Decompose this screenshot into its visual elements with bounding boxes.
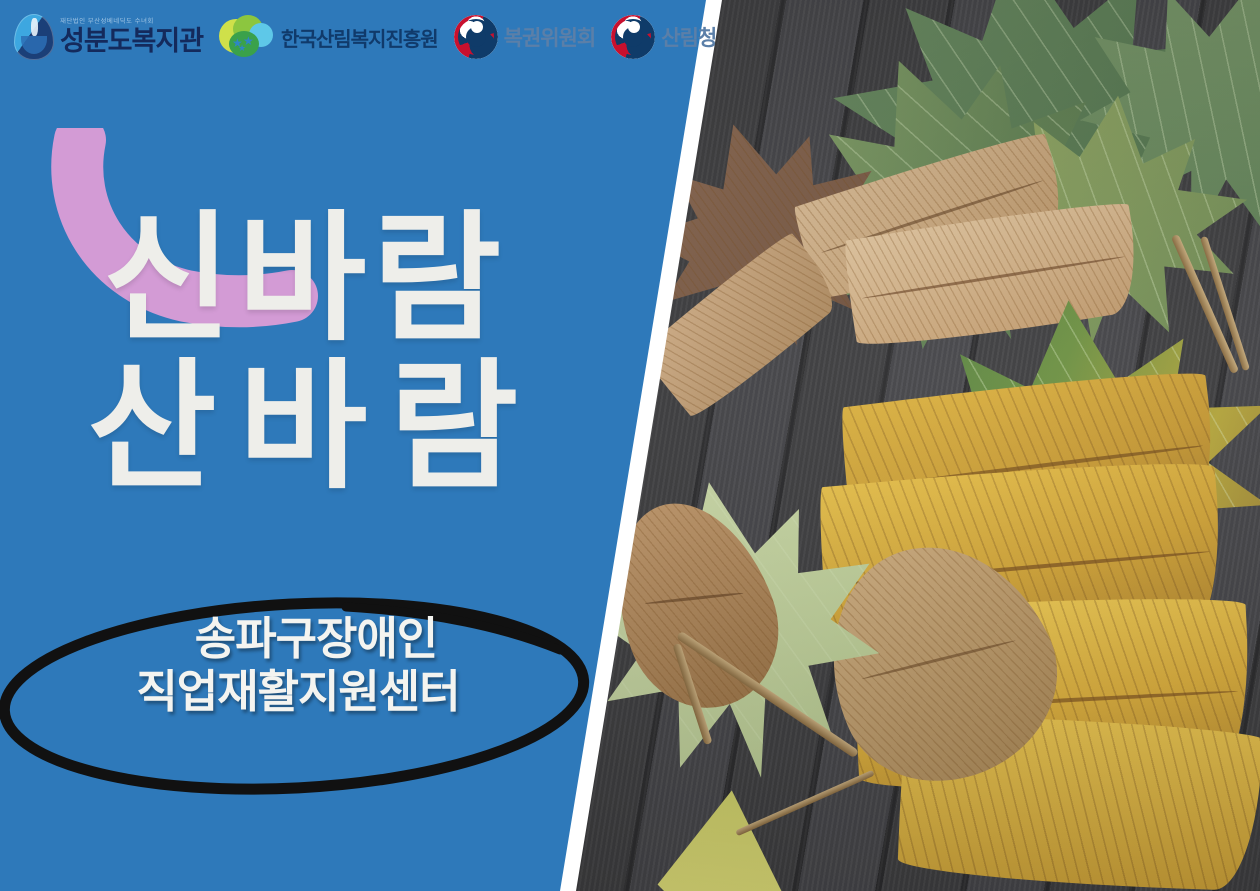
- star-icon-3: ★: [238, 44, 246, 53]
- poster-headline: 신바람 산바람: [0, 212, 600, 495]
- logo-seongbundo-label: 성분도복지관: [60, 28, 203, 55]
- caption-line-2: 직업재활지원센터: [0, 665, 598, 718]
- taegeuk-icon-lottery: [454, 15, 498, 59]
- caption-line-1: 송파구장애인: [0, 612, 598, 665]
- logo-seongbundo-subtitle: 재단법인 부산성베네딕도 수녀회: [60, 20, 203, 26]
- logo-lottery-commission: 복권위원회: [454, 15, 596, 59]
- poster: 재단법인 부산성베네딕도 수녀회 성분도복지관 ★ ★ ★ 한국산림복지진흥원 …: [0, 0, 1260, 891]
- sponsor-logo-bar: 재단법인 부산성베네딕도 수녀회 성분도복지관 ★ ★ ★ 한국산림복지진흥원 …: [14, 6, 716, 68]
- logo-seongbundo: 재단법인 부산성베네딕도 수녀회 성분도복지관: [14, 14, 203, 60]
- teardrop-flame-icon: [14, 14, 54, 60]
- logo-forest-welfare-label: 한국산림복지진흥원: [281, 23, 438, 52]
- caption-block: 송파구장애인 직업재활지원센터: [0, 588, 598, 803]
- logo-forest-service-label: 산림청: [661, 22, 716, 52]
- logo-forest-service: 산림청: [611, 15, 716, 59]
- logo-forest-welfare: ★ ★ ★ 한국산림복지진흥원: [219, 15, 438, 59]
- caption-text: 송파구장애인 직업재활지원센터: [0, 612, 598, 718]
- forest-blob-icon: ★ ★ ★: [219, 15, 275, 59]
- headline-line-1: 신바람: [0, 212, 600, 346]
- headline-line-2: 산바람: [0, 360, 600, 494]
- logo-lottery-commission-label: 복권위원회: [504, 22, 596, 52]
- taegeuk-icon-forest-service: [611, 15, 655, 59]
